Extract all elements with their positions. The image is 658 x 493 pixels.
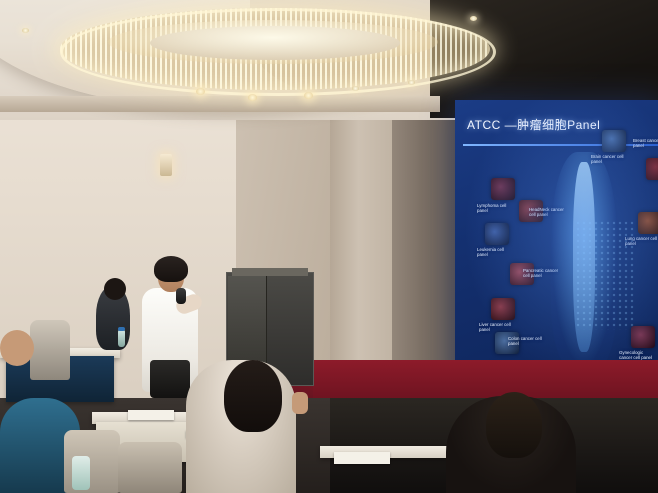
bottle-cap — [118, 327, 125, 331]
panel-label-colon: Colon cancer cell panel — [508, 336, 550, 347]
panel-label-headneck: HeadNeck cancer cell panel — [529, 207, 571, 218]
panel-thumb-leukemia — [485, 223, 509, 245]
ceiling-spotlight — [352, 86, 359, 91]
ceiling-spotlight — [408, 80, 415, 85]
presenter-legs — [150, 360, 190, 398]
slide-title: ATCC —肿瘤细胞Panel — [467, 116, 658, 133]
water-bottle-large — [72, 456, 90, 490]
ceiling-spotlight — [470, 16, 477, 21]
projection-screen: ATCC —肿瘤细胞Panel Brain cancer cell panel … — [455, 100, 658, 392]
microphone — [176, 288, 186, 304]
panel-label-brain: Brain cancer cell panel — [591, 154, 629, 165]
photo-scene: ATCC —肿瘤细胞Panel Brain cancer cell panel … — [0, 0, 658, 493]
panel-thumb-liver — [491, 298, 515, 320]
panel-label-breast: Breast cancer panel — [633, 138, 658, 149]
paper-sheet — [128, 410, 174, 420]
ceiling-spotlight — [304, 92, 313, 99]
panel-thumb-lung — [638, 212, 658, 234]
panel-label-pancreatic: Pancreatic cancer cell panel — [523, 268, 563, 279]
ceiling-spotlight — [22, 28, 29, 33]
panel-thumb-breast — [646, 158, 658, 180]
panel-thumb-brain — [602, 130, 626, 152]
attendee-foreground-center-head — [224, 360, 282, 432]
ceiling-soffit — [0, 96, 440, 112]
attendee-foreground-left-head — [0, 330, 34, 366]
panel-label-lymphoma: Lymphoma cell panel — [477, 203, 515, 214]
paper-sheet — [334, 452, 390, 464]
water-bottle — [118, 330, 125, 347]
ceiling-spotlight — [248, 94, 257, 101]
cabinet-top — [232, 268, 308, 276]
panel-thumb-lymphoma — [491, 178, 515, 200]
chair-left — [30, 320, 70, 380]
slide-title-underline — [463, 144, 658, 146]
attendee-left-head — [104, 278, 126, 300]
attendee-foreground-right-head — [486, 392, 542, 458]
chair-foreground-center — [118, 442, 182, 493]
panel-label-leukemia: Leukemia cell panel — [477, 247, 515, 258]
attendee-foreground-center-hand — [292, 392, 308, 414]
chandelier-rim — [60, 8, 496, 96]
panel-thumb-gynecologic — [631, 326, 655, 348]
ceiling-spotlight — [196, 88, 205, 95]
presenter-hair — [154, 256, 188, 282]
panel-label-lung: Lung cancer cell panel — [625, 236, 658, 247]
wall-sconce — [160, 154, 172, 176]
